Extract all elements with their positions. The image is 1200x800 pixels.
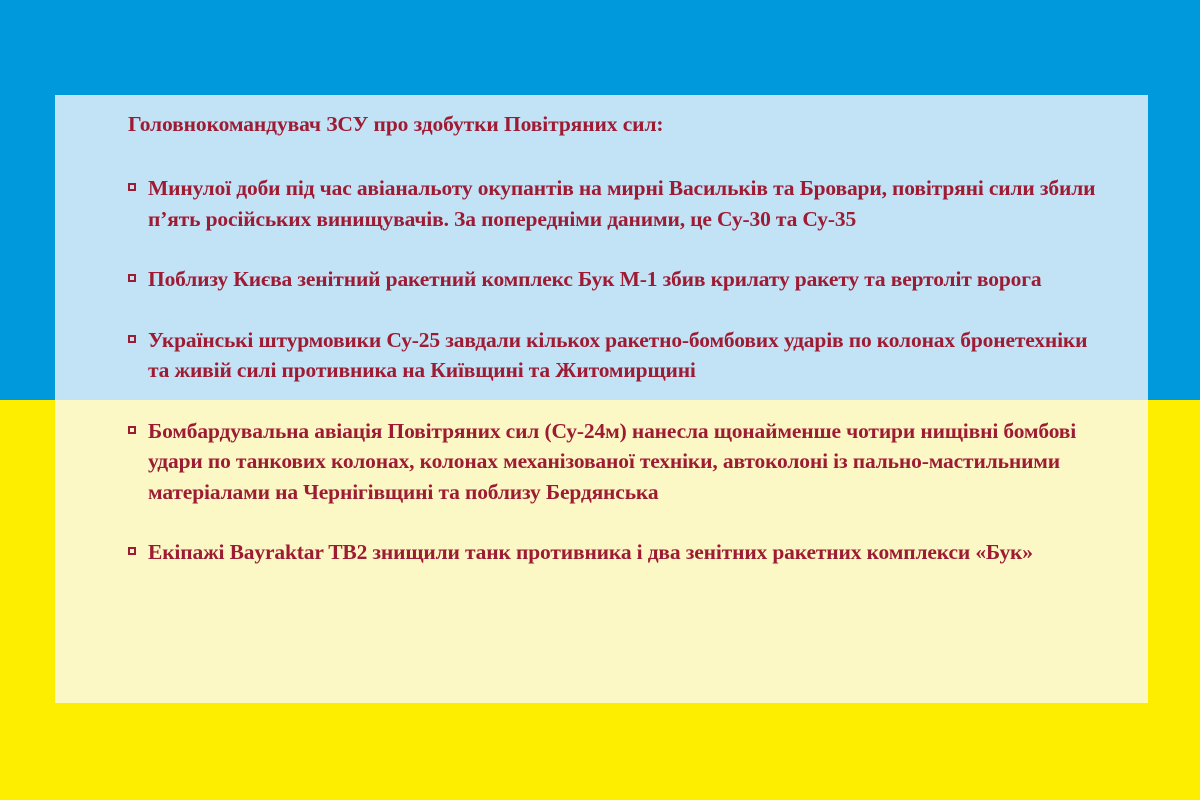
hollow-square-bullet-icon xyxy=(128,547,136,555)
list-item: Поблизу Києва зенітний ракетний комплекс… xyxy=(128,264,1108,295)
hollow-square-bullet-icon xyxy=(128,335,136,343)
hollow-square-bullet-icon xyxy=(128,426,136,434)
list-item-text: Українські штурмовики Су-25 завдали кіль… xyxy=(148,328,1087,383)
list-item: Екіпажі Bayraktar TB2 знищили танк проти… xyxy=(128,537,1108,568)
content-panel: Головнокомандувач ЗСУ про здобутки Повіт… xyxy=(55,95,1148,703)
text-layer: Головнокомандувач ЗСУ про здобутки Повіт… xyxy=(55,95,1148,703)
list-item-text: Екіпажі Bayraktar TB2 знищили танк проти… xyxy=(148,540,1033,564)
hollow-square-bullet-icon xyxy=(128,183,136,191)
list-item: Бомбардувальна авіація Повітряних сил (С… xyxy=(128,416,1108,508)
bullet-list: Минулої доби під час авіанальоту окупант… xyxy=(128,173,1108,568)
list-item-text: Поблизу Києва зенітний ракетний комплекс… xyxy=(148,267,1041,291)
list-item-text: Минулої доби під час авіанальоту окупант… xyxy=(148,176,1095,231)
headline: Головнокомандувач ЗСУ про здобутки Повіт… xyxy=(128,109,1108,139)
list-item: Минулої доби під час авіанальоту окупант… xyxy=(128,173,1108,234)
list-item-text: Бомбардувальна авіація Повітряних сил (С… xyxy=(148,419,1076,504)
infographic-poster: Головнокомандувач ЗСУ про здобутки Повіт… xyxy=(0,0,1200,800)
hollow-square-bullet-icon xyxy=(128,274,136,282)
list-item: Українські штурмовики Су-25 завдали кіль… xyxy=(128,325,1108,386)
